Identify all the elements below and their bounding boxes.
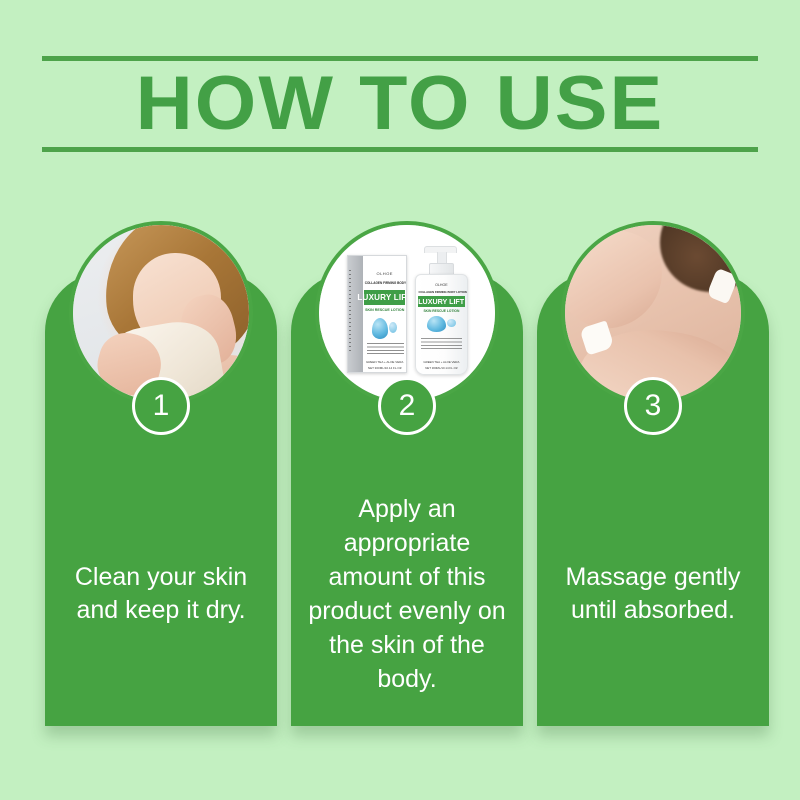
- bottle-net-weight-label: NET 300ML/10.14 FL.OZ: [416, 366, 467, 370]
- bottle-subtitle-label: SKIN RESCUE LOTION: [416, 309, 467, 313]
- step-caption-1: Clean your skin and keep it dry.: [53, 462, 269, 726]
- infographic-page: HOW TO USE 1 Clean your skin and keep it…: [0, 0, 800, 800]
- steps-container: 1 Clean your skin and keep it dry. OLHOE…: [0, 0, 800, 800]
- box-side-panel: [348, 256, 363, 372]
- box-product-name: LUXURY LIFT: [358, 292, 408, 302]
- step-number-badge-1: 1: [132, 377, 190, 435]
- step-card-2: OLHOE COLLAGEN FIRMING BODY LOTION LUXUR…: [291, 272, 523, 726]
- bottle-body: OLHOE COLLAGEN FIRMING BODY LOTION LUXUR…: [415, 274, 468, 375]
- bottle-benefit-bullets: [421, 338, 462, 349]
- bottle-descriptor-label: COLLAGEN FIRMING BODY LOTION: [419, 290, 465, 294]
- bottle-water-drop-graphic: [425, 315, 457, 335]
- step-card-3: 3 Massage gently until absorbed.: [537, 272, 769, 726]
- water-drop-small-icon: [447, 319, 456, 327]
- box-subtitle-label: SKIN RESCUE LOTION: [363, 308, 406, 312]
- water-drop-large-icon: [427, 316, 446, 332]
- product-bottle: OLHOE COLLAGEN FIRMING BODY LOTION LUXUR…: [414, 246, 467, 373]
- water-drop-graphic: [370, 316, 398, 342]
- box-descriptor-label: COLLAGEN FIRMING BODY LOTION: [365, 281, 405, 285]
- bottle-brand-label: OLHOE: [416, 283, 467, 287]
- step-caption-2: Apply an appropriate amount of this prod…: [299, 462, 515, 726]
- box-benefit-bullets: [367, 343, 404, 356]
- step-card-1: 1 Clean your skin and keep it dry.: [45, 272, 277, 726]
- product-box: OLHOE COLLAGEN FIRMING BODY LOTION LUXUR…: [347, 255, 407, 373]
- box-side-text-lines: [349, 270, 351, 354]
- box-name-band: LUXURY LIFT: [364, 290, 405, 305]
- water-drop-large-icon: [372, 318, 388, 338]
- bottle-product-name: LUXURY LIFT: [418, 297, 464, 306]
- box-net-weight-label: NET 300ML/10.14 FL.OZ: [363, 366, 406, 370]
- bottle-name-band: LUXURY LIFT: [418, 296, 465, 307]
- bottle-footer-label: GREEN TEA + ALOE VERA: [416, 360, 467, 364]
- box-front-panel: OLHOE COLLAGEN FIRMING BODY LOTION LUXUR…: [363, 256, 406, 372]
- step-caption-3: Massage gently until absorbed.: [545, 462, 761, 726]
- step-number-badge-2: 2: [378, 377, 436, 435]
- step-number-badge-3: 3: [624, 377, 682, 435]
- box-footer-label: GREEN TEA + ALOE VERA: [363, 360, 406, 364]
- water-drop-small-icon: [389, 322, 397, 333]
- box-brand-label: OLHOE: [363, 271, 406, 276]
